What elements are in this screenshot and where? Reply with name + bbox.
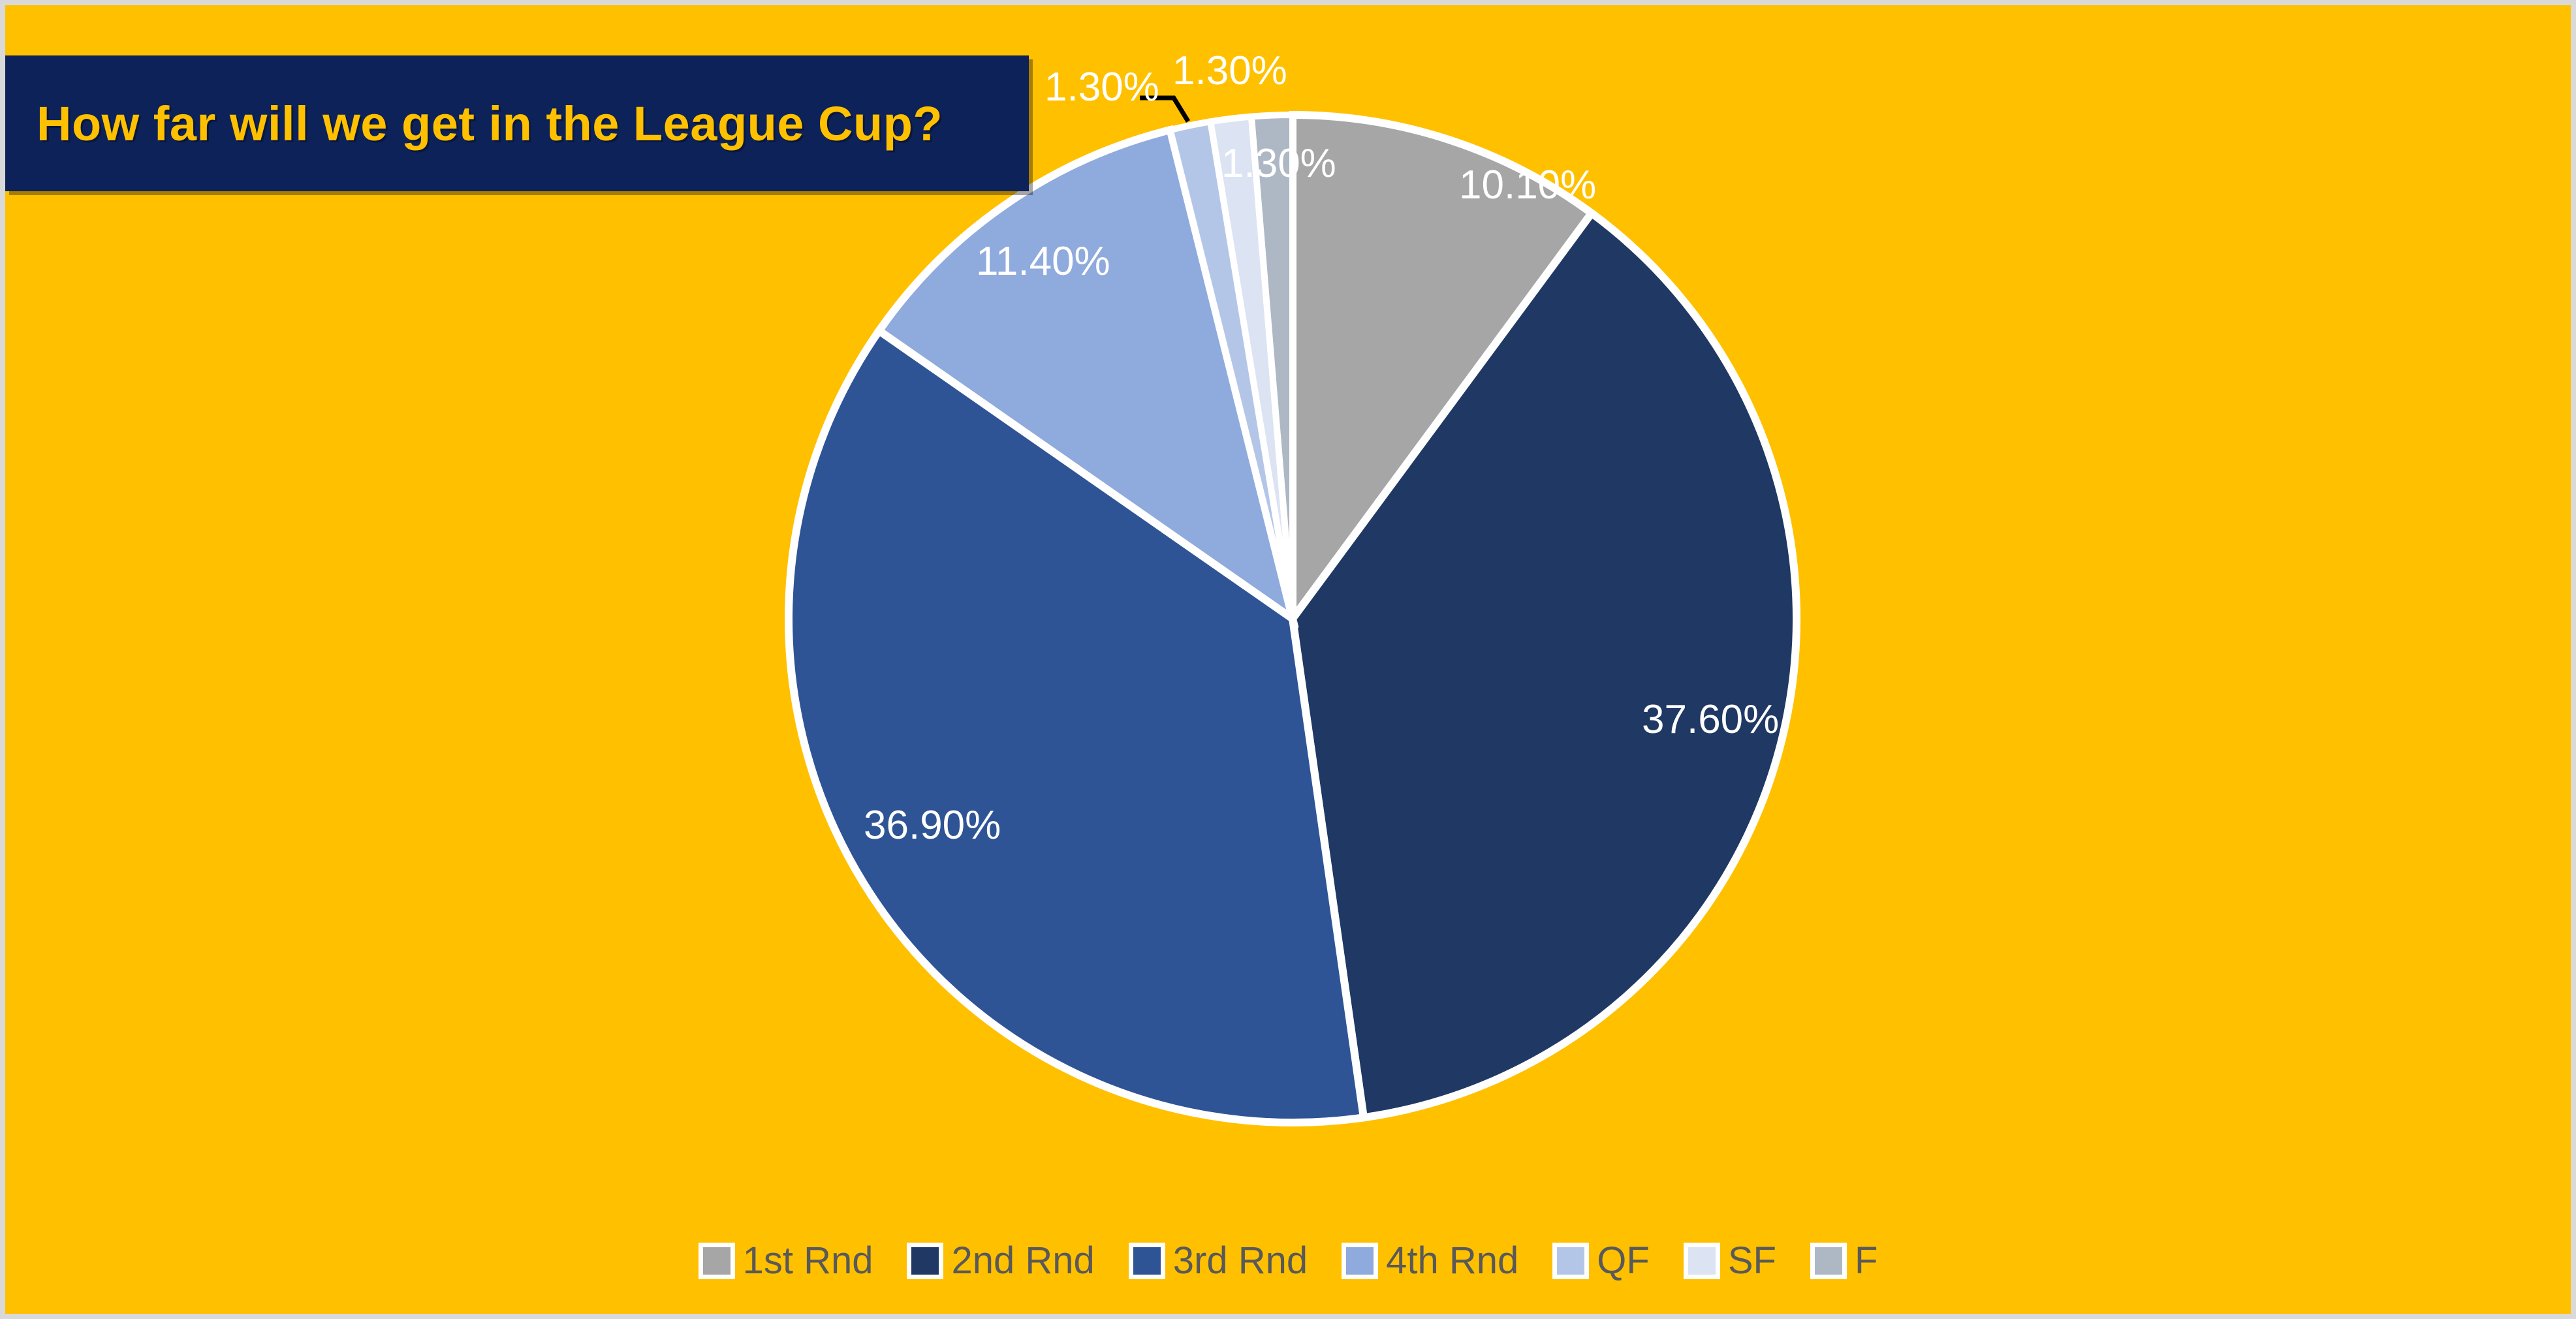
legend-item-4th-rnd[interactable]: 4th Rnd: [1342, 1239, 1518, 1282]
data-label-4th-rnd: 11.40%: [976, 241, 1110, 282]
slide-canvas: 10.10% 37.60% 36.90% 11.40% 1.30% 1.30% …: [5, 5, 2571, 1314]
legend-swatch-icon: [907, 1243, 943, 1279]
legend-item-f[interactable]: F: [1810, 1239, 1877, 1282]
data-label-f: 1.30%: [1221, 144, 1336, 184]
chart-title-box: How far will we get in the League Cup?: [5, 55, 1029, 191]
legend-label: 3rd Rnd: [1173, 1239, 1308, 1282]
legend-item-sf[interactable]: SF: [1684, 1239, 1776, 1282]
legend-label: 4th Rnd: [1386, 1239, 1518, 1282]
legend-swatch-icon: [699, 1243, 735, 1279]
legend-item-1st-rnd[interactable]: 1st Rnd: [699, 1239, 873, 1282]
data-label-qf: 1.30%: [1045, 67, 1159, 108]
legend-swatch-icon: [1129, 1243, 1165, 1279]
legend-label: QF: [1597, 1239, 1650, 1282]
legend-label: F: [1855, 1239, 1877, 1282]
legend-swatch-icon: [1684, 1243, 1720, 1279]
legend-label: 1st Rnd: [743, 1239, 873, 1282]
page-title: How far will we get in the League Cup?: [5, 96, 943, 151]
data-label-sf: 1.30%: [1172, 51, 1287, 91]
legend-swatch-icon: [1552, 1243, 1589, 1279]
legend-item-2nd-rnd[interactable]: 2nd Rnd: [907, 1239, 1094, 1282]
legend-swatch-icon: [1810, 1243, 1847, 1279]
legend-swatch-icon: [1342, 1243, 1378, 1279]
data-label-2nd-rnd: 37.60%: [1642, 700, 1779, 740]
legend-label: 2nd Rnd: [951, 1239, 1094, 1282]
legend-item-3rd-rnd[interactable]: 3rd Rnd: [1129, 1239, 1308, 1282]
data-label-1st-rnd: 10.10%: [1459, 165, 1596, 206]
legend-item-qf[interactable]: QF: [1552, 1239, 1650, 1282]
legend-label: SF: [1728, 1239, 1776, 1282]
pie-chart-svg: [5, 5, 2571, 1314]
pie-chart[interactable]: 10.10% 37.60% 36.90% 11.40% 1.30% 1.30% …: [5, 5, 2571, 1314]
chart-legend: 1st Rnd 2nd Rnd 3rd Rnd 4th Rnd QF SF F: [5, 1239, 2571, 1282]
data-label-3rd-rnd: 36.90%: [864, 805, 1001, 846]
